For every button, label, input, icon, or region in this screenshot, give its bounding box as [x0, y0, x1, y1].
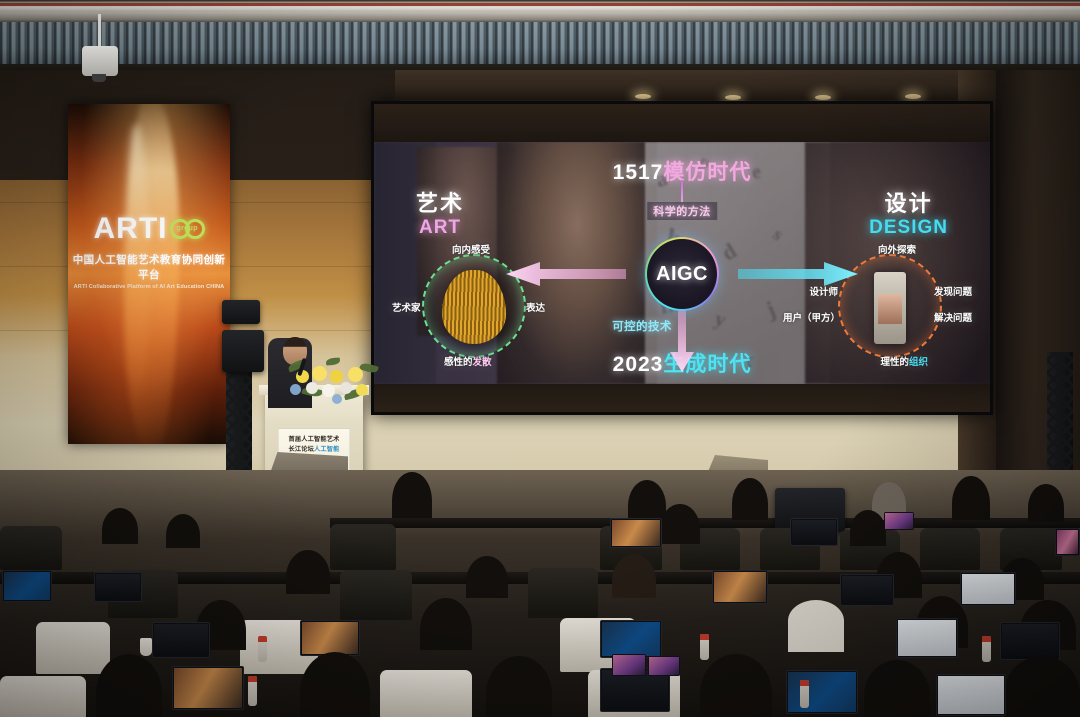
audience-phone [648, 656, 680, 676]
audience-laptop [172, 666, 244, 710]
audience-chair [528, 568, 598, 618]
banner-logo-block: ARTI group 中国人工智能艺术教育协同创新平台 ARTI Collabo… [68, 212, 230, 290]
slide-arrow-left-icon [506, 262, 626, 286]
left-speaker-lower [222, 330, 264, 372]
slide-left-heading-cn: 艺术 [416, 186, 464, 218]
banner-cn-name: 中国人工智能艺术教育协同创新平台 [68, 252, 230, 282]
audience-chair [36, 622, 110, 674]
slide-right-label-designer: 设计师 [809, 284, 838, 298]
water-bottle [700, 634, 709, 660]
audience-person [850, 510, 886, 546]
slide-top-connector-line [681, 180, 683, 202]
audience-laptop [300, 620, 360, 656]
slide-arrow-down-icon [670, 310, 694, 372]
slide-left-label-divergence: 感性的发散 [444, 354, 492, 368]
audience-laptop [790, 518, 838, 546]
led-banner: ARTI group 中国人工智能艺术教育协同创新平台 ARTI Collabo… [68, 104, 230, 444]
audience-phone [612, 654, 646, 676]
slide-bottom-title-year: 2023 [613, 353, 664, 376]
slide-arrow-right-icon [738, 262, 858, 286]
slide-left-corn-image [442, 270, 506, 344]
slide-top-title-year: 1517 [613, 161, 664, 184]
audience-laptop [960, 572, 1016, 606]
proscenium-header [395, 70, 995, 100]
audience-laptop [936, 674, 1006, 716]
conference-hall-photo: ARTI group 中国人工智能艺术教育协同创新平台 ARTI Collabo… [0, 0, 1080, 717]
audience-chair [330, 524, 396, 570]
slide-right-label-organization-a: 理性的 [880, 357, 909, 368]
audience-person [788, 600, 844, 652]
slide-left-label-divergence-a: 感性的 [444, 357, 473, 368]
slide-label-controllable-tech: 可控的技术 [612, 318, 672, 334]
slide-right-heading: 设计 DESIGN [869, 186, 948, 239]
stage-curtain-valance [0, 22, 1080, 70]
slide-left-label-artist: 艺术家 [392, 300, 421, 314]
audience-laptop [2, 570, 52, 602]
letterbox-top-bar [374, 104, 990, 142]
audience-person [166, 514, 200, 548]
slide-right-label-organization-b: 组织 [909, 357, 928, 368]
lectern-sign-line2: 长江论坛人工智能 [279, 444, 349, 453]
slide-left-label-inward: 向内感受 [452, 242, 490, 256]
audience-chair [0, 676, 86, 717]
audience-laptop [712, 570, 768, 604]
slide-top-title-text: 模仿时代 [663, 161, 751, 184]
slide-right-label-find-problem: 发现问题 [934, 284, 972, 298]
audience-person [102, 508, 138, 544]
slide-left-heading: 艺术 ART [416, 186, 464, 239]
left-speaker-upper [222, 300, 260, 324]
slide-left-label-expression: 表达 [526, 300, 545, 314]
banner-logo-wordmark: ARTI [94, 212, 168, 246]
slide-left-heading-en: ART [416, 217, 464, 239]
banner-logo-infinity-mark: group [170, 219, 205, 239]
projector-mount-rod [98, 14, 101, 48]
slide-label-scientific-method: 科学的方法 [647, 202, 717, 220]
audience-laptop [152, 622, 210, 658]
water-bottle [248, 676, 257, 706]
lectern-sign-line2-a: 长江论坛 [288, 446, 314, 453]
audience-chair [340, 570, 412, 620]
projector-lens-icon [92, 74, 106, 82]
audience-laptop [840, 574, 894, 606]
lectern-sign-line2-b: 人工智能 [314, 446, 340, 453]
water-bottle [800, 680, 809, 708]
audience-chair [0, 526, 62, 570]
projection-screen: a p e b d s m y j a r 1517模仿时代 [371, 101, 993, 415]
audience-laptop [896, 618, 958, 658]
slide-center-node-aigc: AIGC [645, 237, 719, 311]
lectern-sign-line1: 首届人工智能艺术 [279, 434, 349, 443]
slide-right-label-solve-problem: 解决问题 [934, 310, 972, 324]
ceiling-projector [82, 46, 118, 76]
slide-right-device-image [874, 272, 906, 344]
ceiling-red-stripe [0, 3, 1080, 6]
slide-right-heading-en: DESIGN [869, 217, 948, 239]
audience-laptop [1000, 622, 1060, 660]
audience-laptop [600, 620, 662, 658]
water-bottle [982, 636, 991, 662]
paper-cup [140, 638, 152, 656]
screen-surface: a p e b d s m y j a r 1517模仿时代 [374, 104, 990, 412]
slide-center-node-label: AIGC [656, 263, 708, 286]
water-bottle [258, 636, 267, 662]
audience-laptop [94, 572, 142, 602]
banner-logo-sub: group [177, 225, 198, 232]
slide-right-heading-cn: 设计 [869, 186, 948, 218]
audience-laptop [1055, 528, 1080, 556]
slide-content: a p e b d s m y j a r 1517模仿时代 [374, 142, 990, 384]
audience-area [0, 470, 1080, 717]
slide-right-label-client: 用户（甲方） [783, 310, 840, 324]
slide-left-label-divergence-b: 发散 [473, 357, 492, 368]
banner-en-name: ARTI Collaborative Platform of AI Art Ed… [68, 284, 230, 290]
audience-chair [920, 528, 980, 570]
slide-right-label-organization: 理性的组织 [880, 354, 928, 368]
audience-chair [380, 670, 472, 717]
slide-right-label-outward: 向外探索 [878, 242, 916, 256]
audience-laptop [610, 518, 662, 548]
audience-phone [884, 512, 914, 530]
audience-laptop [786, 670, 858, 714]
